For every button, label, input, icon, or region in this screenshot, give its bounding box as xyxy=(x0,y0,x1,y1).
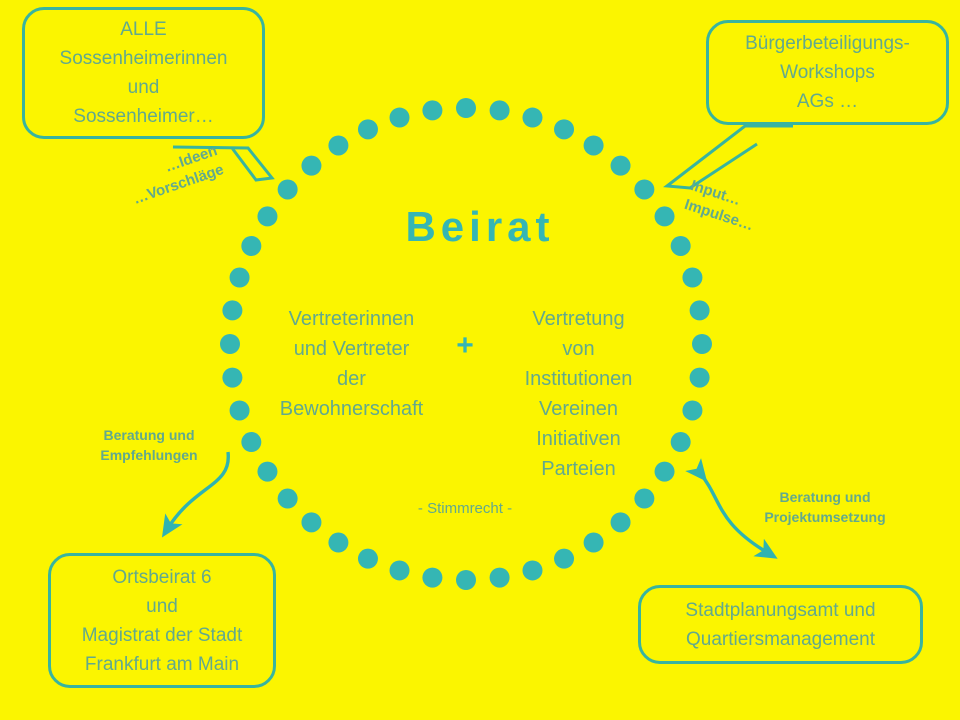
ring-dot xyxy=(682,400,702,420)
center-composition: Vertreterinnen und Vertreter der Bewohne… xyxy=(255,304,675,484)
ring-dot xyxy=(456,570,476,590)
ring-dot xyxy=(692,334,712,354)
bubble-tail-workshops xyxy=(667,126,793,188)
page-title: Beirat xyxy=(0,203,960,251)
ring-dot xyxy=(554,549,574,569)
ring-dot xyxy=(584,135,604,155)
ring-dot xyxy=(634,179,654,199)
ring-dot xyxy=(690,368,710,388)
bubble-participation-workshops: Bürgerbeteiligungs- Workshops AGs … xyxy=(706,20,949,125)
ring-dot xyxy=(611,156,631,176)
ring-dot xyxy=(222,368,242,388)
flow-label-ideen-vorschlaege: …Ideen …Vorschläge xyxy=(124,141,227,210)
ring-dot xyxy=(456,98,476,118)
ring-dot xyxy=(690,300,710,320)
ring-dot xyxy=(230,400,250,420)
box-stadtplanungsamt-quartiersmanagement: Stadtplanungsamt und Quartiersmanagement xyxy=(638,585,923,664)
ring-dot xyxy=(358,119,378,139)
ring-dot xyxy=(220,334,240,354)
ring-dot xyxy=(328,135,348,155)
ring-dot xyxy=(682,268,702,288)
bubble-all-citizens: ALLE Sossenheimerinnen und Sossenheimer… xyxy=(22,7,265,139)
ring-dot xyxy=(390,560,410,580)
ring-dot xyxy=(554,119,574,139)
plus-icon: + xyxy=(439,304,491,361)
ring-dot xyxy=(230,268,250,288)
ring-dot xyxy=(490,100,510,120)
column-institutions: Vertretung von Institutionen Vereinen In… xyxy=(491,304,666,484)
ring-dot xyxy=(278,179,298,199)
flow-label-beratung-projektumsetzung: Beratung und Projektumsetzung xyxy=(740,487,910,527)
bubble-participation-workshops-label: Bürgerbeteiligungs- Workshops AGs … xyxy=(745,29,910,116)
ring-dot xyxy=(522,560,542,580)
ring-dot xyxy=(422,100,442,120)
flow-label-beratung-empfehlungen: Beratung und Empfehlungen xyxy=(74,425,224,465)
ring-dot xyxy=(222,300,242,320)
ring-dot xyxy=(390,108,410,128)
box-ortsbeirat-magistrat-label: Ortsbeirat 6 und Magistrat der Stadt Fra… xyxy=(82,563,243,679)
ring-dot xyxy=(584,533,604,553)
box-ortsbeirat-magistrat: Ortsbeirat 6 und Magistrat der Stadt Fra… xyxy=(48,553,276,688)
column-residents: Vertreterinnen und Vertreter der Bewohne… xyxy=(264,304,439,424)
box-stadtplanungsamt-quartiersmanagement-label: Stadtplanungsamt und Quartiersmanagement xyxy=(685,596,875,654)
ring-dot xyxy=(328,533,348,553)
ring-dot xyxy=(490,568,510,588)
ring-dot xyxy=(422,568,442,588)
ring-dot xyxy=(522,108,542,128)
bubble-all-citizens-label: ALLE Sossenheimerinnen und Sossenheimer… xyxy=(60,15,228,131)
ring-dot xyxy=(358,549,378,569)
diagram-canvas: Beirat Vertreterinnen und Vertreter der … xyxy=(0,0,960,720)
ring-dot xyxy=(301,156,321,176)
voting-rights-note: - Stimmrecht - xyxy=(255,500,675,517)
